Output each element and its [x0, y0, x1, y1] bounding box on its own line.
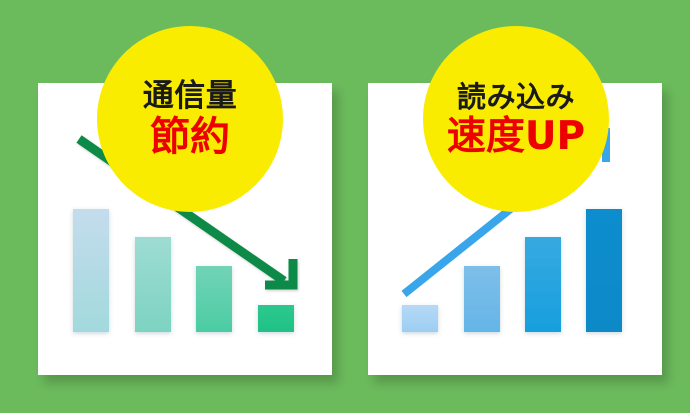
badge-label-highlight: 速度UP	[447, 117, 585, 156]
badge-label-highlight: 節約	[150, 117, 230, 157]
badge-loading-speed: 読み込み 速度UP	[423, 26, 609, 212]
badge-label-primary: 読み込み	[457, 83, 575, 112]
badge-label-primary: 通信量	[143, 81, 238, 112]
infographic-canvas: 通信量 節約 読み込み 速度UP	[0, 0, 690, 413]
badge-data-savings: 通信量 節約	[97, 26, 283, 212]
